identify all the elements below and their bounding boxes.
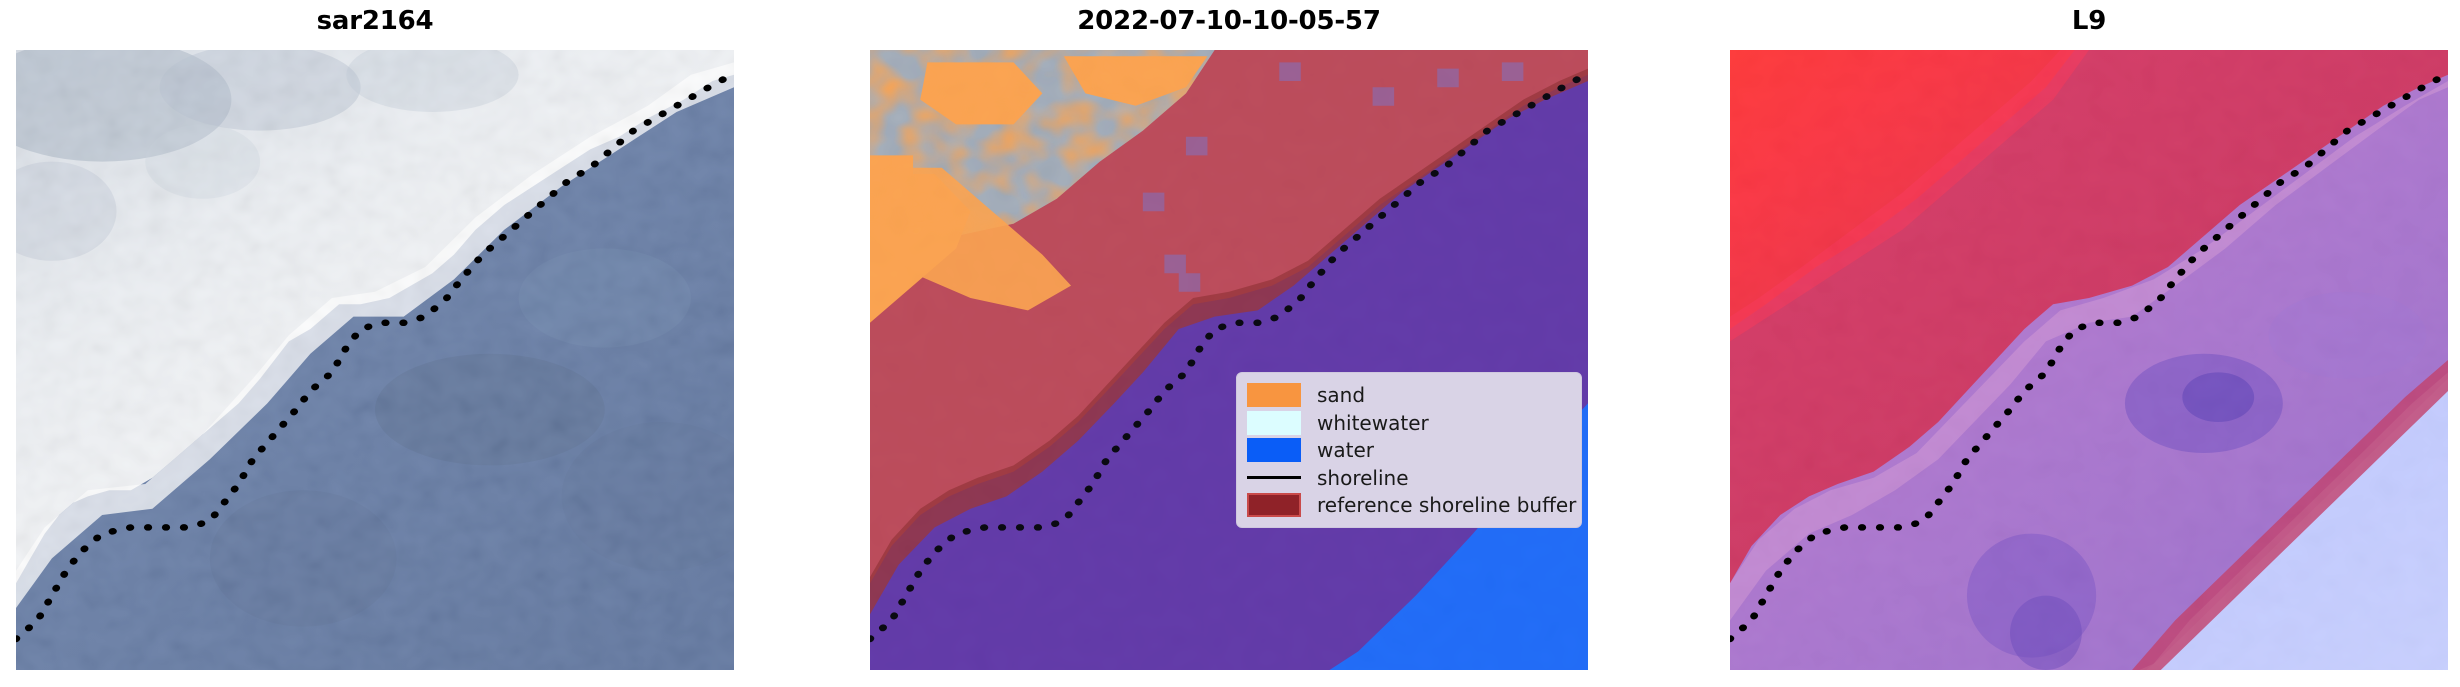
figure-canvas: sar2164 2022-07-10-10-05-57 L9 bbox=[0, 0, 2460, 687]
legend-swatch-water bbox=[1247, 438, 1301, 462]
classified-raster bbox=[870, 50, 1588, 670]
legend-item-reference-shoreline-buffer: reference shoreline buffer bbox=[1247, 492, 1569, 518]
legend-swatch-shoreline bbox=[1247, 466, 1301, 490]
shoreline-line-glyph bbox=[1247, 476, 1301, 479]
legend-item-sand: sand bbox=[1247, 382, 1569, 408]
legend-label-shoreline: shoreline bbox=[1317, 468, 1409, 488]
legend-swatch-whitewater bbox=[1247, 411, 1301, 435]
sar-raster bbox=[16, 50, 734, 670]
legend-label-sand: sand bbox=[1317, 385, 1365, 405]
legend-item-shoreline: shoreline bbox=[1247, 465, 1569, 491]
image-panel-classified[interactable]: sand whitewater water shoreline referenc… bbox=[870, 50, 1588, 670]
panel-title-l9: L9 bbox=[1730, 6, 2448, 36]
legend: sand whitewater water shoreline referenc… bbox=[1236, 372, 1582, 528]
panel-title-sar: sar2164 bbox=[16, 6, 734, 36]
image-panel-sar[interactable] bbox=[16, 50, 734, 670]
legend-label-reference-shoreline-buffer: reference shoreline buffer bbox=[1317, 495, 1576, 515]
image-panel-l9[interactable] bbox=[1730, 50, 2448, 670]
legend-item-whitewater: whitewater bbox=[1247, 410, 1569, 436]
legend-item-water: water bbox=[1247, 437, 1569, 463]
legend-swatch-sand bbox=[1247, 383, 1301, 407]
legend-label-whitewater: whitewater bbox=[1317, 413, 1429, 433]
legend-label-water: water bbox=[1317, 440, 1374, 460]
panel-title-classified: 2022-07-10-10-05-57 bbox=[870, 6, 1588, 36]
l9-raster bbox=[1730, 50, 2448, 670]
legend-swatch-reference-shoreline-buffer bbox=[1247, 493, 1301, 517]
